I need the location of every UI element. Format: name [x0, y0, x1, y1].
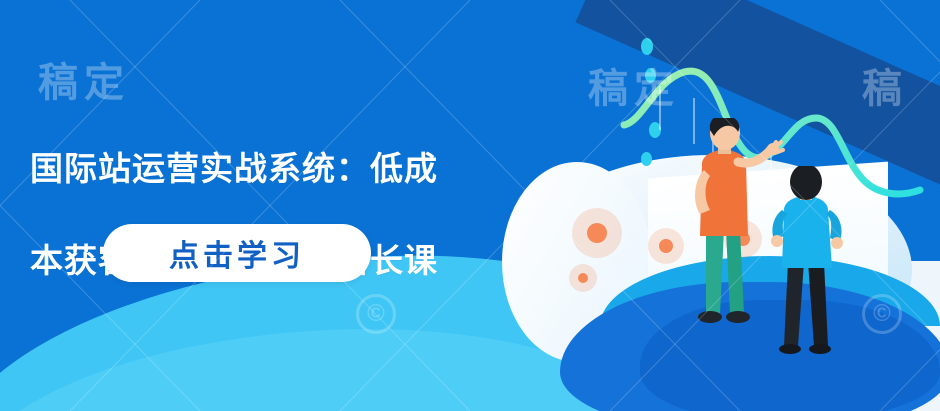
- cta-learn-button[interactable]: 点击学习: [103, 224, 371, 282]
- headline-line-1: 国际站运营实战系统：低成: [30, 146, 610, 192]
- cta-label: 点击学习: [169, 231, 305, 275]
- listener-shoe-left: [779, 344, 801, 354]
- listener-leg-left: [784, 262, 804, 346]
- listener-hand-left: [771, 235, 783, 247]
- presenter-arm-raised: [738, 148, 772, 163]
- presenter-shoe-left: [698, 311, 722, 323]
- data-dot-core: [659, 239, 673, 253]
- accent-pill-4: [641, 152, 652, 166]
- listener-shoe-right: [809, 344, 831, 354]
- drop-line-1: [659, 86, 661, 130]
- presenter-shoe-right: [726, 311, 750, 323]
- presenter-palm: [767, 143, 779, 155]
- listener-shirt: [782, 196, 832, 268]
- listener-head-hair: [790, 166, 822, 200]
- course-banner: 国际站运营实战系统：低成 本获客，高质量询盘增长课 点击学习 稿定 稿定 稿 ©…: [0, 0, 940, 411]
- presenter-leg-right: [726, 230, 744, 314]
- accent-pill-2: [645, 68, 656, 83]
- listener-leg-right: [808, 262, 828, 346]
- presenter-leg-left: [706, 230, 724, 314]
- accent-pill-1: [641, 38, 653, 55]
- listener-hand-right: [831, 237, 843, 249]
- figure-listener: [762, 166, 872, 366]
- page-title: 国际站运营实战系统：低成 本获客，高质量询盘增长课: [30, 100, 610, 330]
